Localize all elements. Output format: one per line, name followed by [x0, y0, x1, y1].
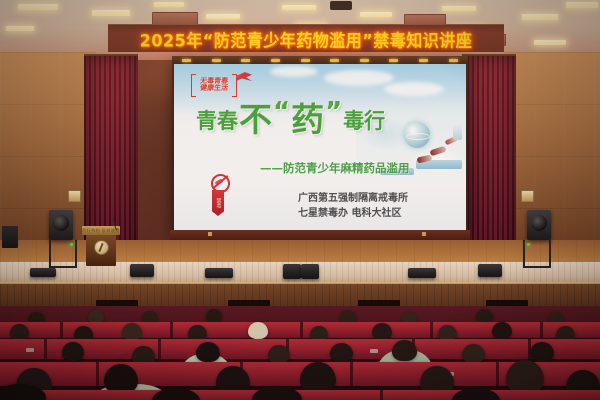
floor-monitor-speaker	[408, 268, 436, 278]
podium-emblem	[94, 240, 109, 255]
seat-divider	[60, 322, 63, 338]
seat-divider	[158, 339, 161, 359]
audience-head-blonde	[248, 322, 268, 339]
floor-monitor-speaker	[301, 264, 319, 279]
led-banner-text: 2025年“防范青少年药物滥用”禁毒知识讲座	[140, 26, 473, 51]
ceiling-light	[522, 14, 558, 20]
rail-screw	[208, 232, 212, 236]
tower-speaker-left	[49, 210, 73, 240]
auditorium-scene: 2025年“防范青少年药物滥用”禁毒知识讲座	[0, 0, 600, 400]
rail-led	[360, 59, 369, 62]
seat-divider	[540, 322, 543, 338]
audience-head	[392, 340, 417, 361]
ceiling-light	[534, 40, 566, 45]
screen-bottom-rail	[170, 230, 470, 240]
rail-led	[271, 59, 280, 62]
title-quote-open: “	[273, 97, 290, 127]
slide-cloud	[270, 66, 318, 77]
podium: 厉行节约 反对浪费	[86, 226, 116, 266]
slide-slogan-badge: 无毒青春 健康生活	[191, 73, 237, 96]
rail-led	[182, 59, 191, 62]
audience-head	[62, 342, 84, 361]
title-part-2: 不	[239, 104, 272, 135]
slide-title: 青春 不 “ 药 ” 毒行	[196, 104, 446, 135]
seat-divider	[300, 322, 303, 338]
rail-led	[301, 59, 310, 62]
wall-outlet-plate	[521, 190, 534, 202]
seat-number-plate	[370, 349, 378, 353]
wall-outlet-plate	[68, 190, 81, 202]
slide-cloud	[324, 70, 394, 86]
ceiling-projector	[330, 1, 352, 10]
seat-divider	[380, 390, 383, 400]
audience-head	[10, 324, 29, 340]
audience-head	[492, 322, 512, 339]
vertical-banner-text: 禁毒	[216, 198, 221, 208]
audience-head-foreground	[252, 386, 302, 400]
ceiling-light	[206, 14, 240, 19]
ceiling-light	[154, 2, 184, 7]
slide-subtitle: ——防范青少年麻精药品滥用	[260, 160, 410, 176]
audience-head	[530, 342, 554, 362]
ceiling-light	[6, 26, 34, 31]
rail-led	[419, 59, 428, 62]
badge-bracket-left	[191, 74, 196, 97]
audience-head	[268, 345, 290, 363]
rail-led	[241, 59, 250, 62]
audience-head	[196, 342, 220, 362]
ceiling-light	[92, 10, 130, 16]
stage-curtain-right	[462, 56, 516, 264]
seat-divider	[44, 339, 47, 359]
audience-area	[0, 306, 600, 400]
audience-head	[330, 343, 353, 362]
audience-head	[372, 323, 392, 340]
projected-slide: 无毒青春 健康生活 青春 不 “ 药 ” 毒行 ——防范青少年麻精药品滥用 广西…	[174, 64, 466, 230]
organization-line-2: 七星禁毒办 电科大社区	[298, 207, 408, 222]
seat-row	[0, 339, 600, 359]
badge-line-2: 健康生活	[200, 85, 229, 92]
audience-head	[506, 360, 544, 394]
slide-organizations: 广西第五强制隔离戒毒所 七星禁毒办 电科大社区	[298, 192, 408, 221]
medicine-bottle-icon	[453, 124, 462, 140]
podium-plate-text: 厉行节约 反对浪费	[82, 228, 120, 234]
rail-led	[449, 59, 458, 62]
floor-monitor-speaker	[205, 268, 233, 278]
rail-led	[330, 59, 339, 62]
floor-monitor-speaker	[478, 264, 502, 277]
audience-head	[476, 309, 493, 323]
power-led	[527, 243, 530, 246]
podium-body	[86, 235, 116, 266]
title-part-1: 青春	[196, 105, 238, 135]
tower-speaker-right	[527, 210, 551, 240]
floor-monitor-speaker	[283, 264, 301, 279]
ceiling-light	[282, 5, 316, 10]
screen-top-rail	[172, 56, 468, 64]
organization-line-1: 广西第五强制隔离戒毒所	[298, 192, 408, 207]
seat-divider	[496, 362, 499, 386]
slide-cloud	[384, 82, 444, 96]
power-led	[70, 243, 73, 246]
title-part-3: 药	[291, 104, 324, 135]
led-banner: 2025年“防范青少年药物滥用”禁毒知识讲座	[108, 24, 504, 52]
title-part-4: 毒行	[343, 105, 385, 135]
ceiling-light	[442, 6, 476, 11]
floor-monitor-speaker	[130, 264, 154, 277]
audience-head	[462, 344, 485, 363]
ceiling-light	[18, 4, 58, 10]
audience-head	[206, 309, 222, 323]
audience-head	[122, 323, 142, 340]
stage-side-cabinet	[2, 226, 18, 248]
vertical-red-banner: 禁毒	[212, 190, 224, 216]
seat-divider	[430, 322, 433, 338]
no-drugs-icon-pill	[215, 178, 224, 185]
seat-divider	[350, 362, 353, 386]
ceiling-light	[360, 12, 392, 17]
rail-led	[389, 59, 398, 62]
floor-monitor-speaker	[30, 268, 56, 277]
rail-led	[212, 59, 221, 62]
rail-screw	[422, 232, 426, 236]
seat-number-plate	[26, 348, 34, 352]
seat-divider	[170, 322, 173, 338]
ceiling-light	[566, 2, 598, 8]
title-quote-close: ”	[325, 97, 342, 127]
seat-divider	[96, 362, 99, 386]
